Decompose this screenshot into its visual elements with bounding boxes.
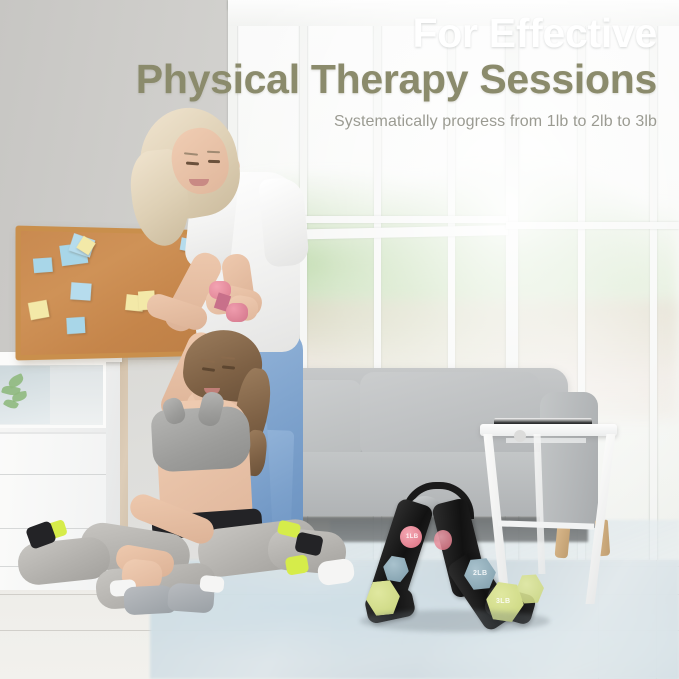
eye (208, 160, 220, 163)
dumbbell-1lb-label: 1LB (406, 534, 419, 540)
table-screw (514, 430, 526, 442)
product-lifestyle-photo: 1LB 2LB 3LB For Effective Physical Thera… (0, 0, 679, 679)
dumbbell-2lb-label: 2LB (473, 570, 487, 577)
dumbbell-rack: 1LB 2LB 3LB (360, 482, 560, 632)
eyebrow (207, 151, 220, 153)
dumbbell-3lb-label: 3LB (496, 598, 510, 605)
sticky-note (33, 257, 53, 273)
rack-shadow (360, 610, 550, 632)
headline-line-1: For Effective (413, 10, 657, 57)
sticky-note (28, 300, 50, 321)
headline-line-2: Physical Therapy Sessions (136, 56, 657, 103)
subtitle: Systematically progress from 1lb to 2lb … (334, 113, 657, 131)
potted-plant (2, 372, 44, 420)
sticky-note (66, 317, 85, 334)
sticky-note (70, 282, 91, 301)
sock (199, 575, 225, 593)
